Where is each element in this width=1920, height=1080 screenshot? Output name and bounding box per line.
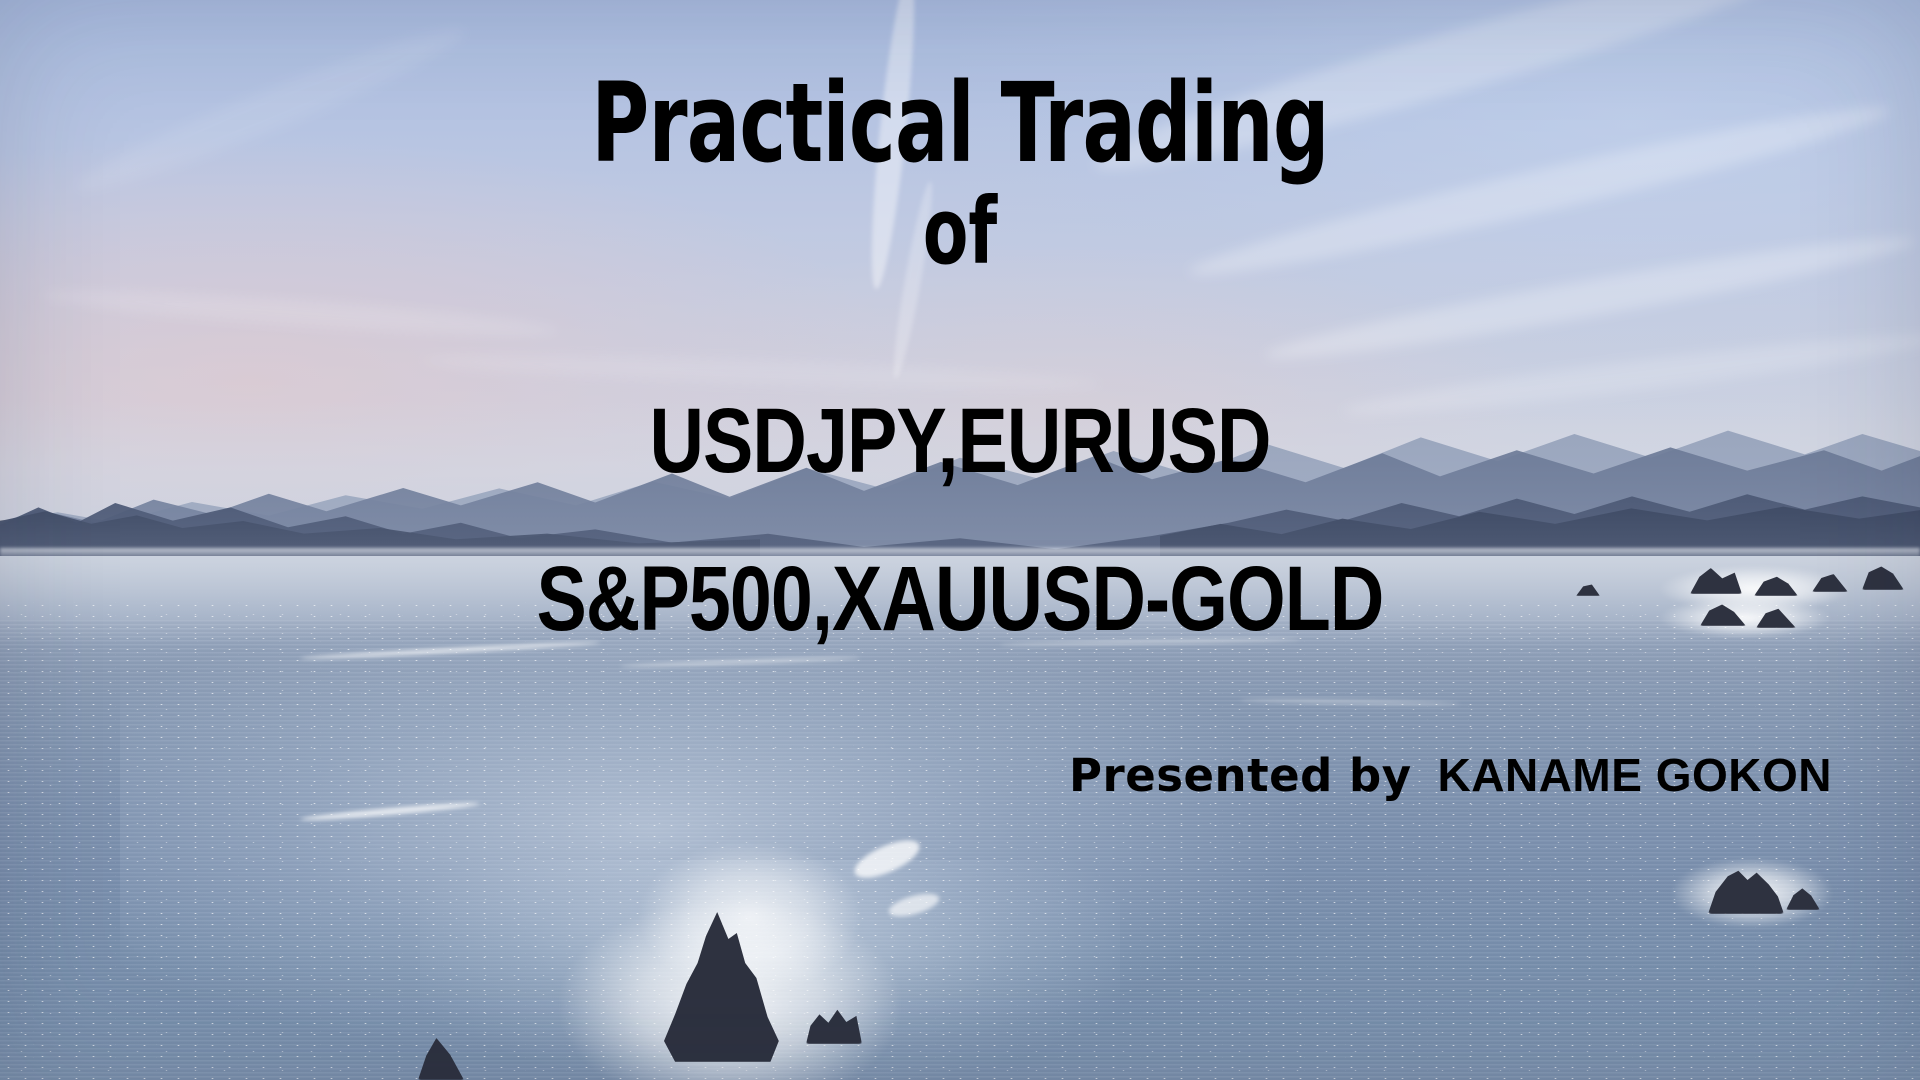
presenter-name: KANAME GOKON bbox=[1412, 749, 1832, 801]
presented-by-label: Presented by bbox=[1069, 749, 1412, 802]
instruments-line-2: S&P500,XAUUSD-GOLD bbox=[77, 554, 1843, 646]
presenter-credit: Presented byKANAME GOKON bbox=[0, 748, 1920, 802]
title-slide: Practical Trading of USDJPY,EURUSD S&P50… bbox=[0, 0, 1920, 1080]
slide-text-layer: Practical Trading of USDJPY,EURUSD S&P50… bbox=[0, 0, 1920, 1080]
slide-title-line-1: Practical Trading bbox=[192, 68, 1728, 178]
instruments-line-1: USDJPY,EURUSD bbox=[77, 396, 1843, 488]
slide-title-line-2: of bbox=[192, 186, 1728, 278]
